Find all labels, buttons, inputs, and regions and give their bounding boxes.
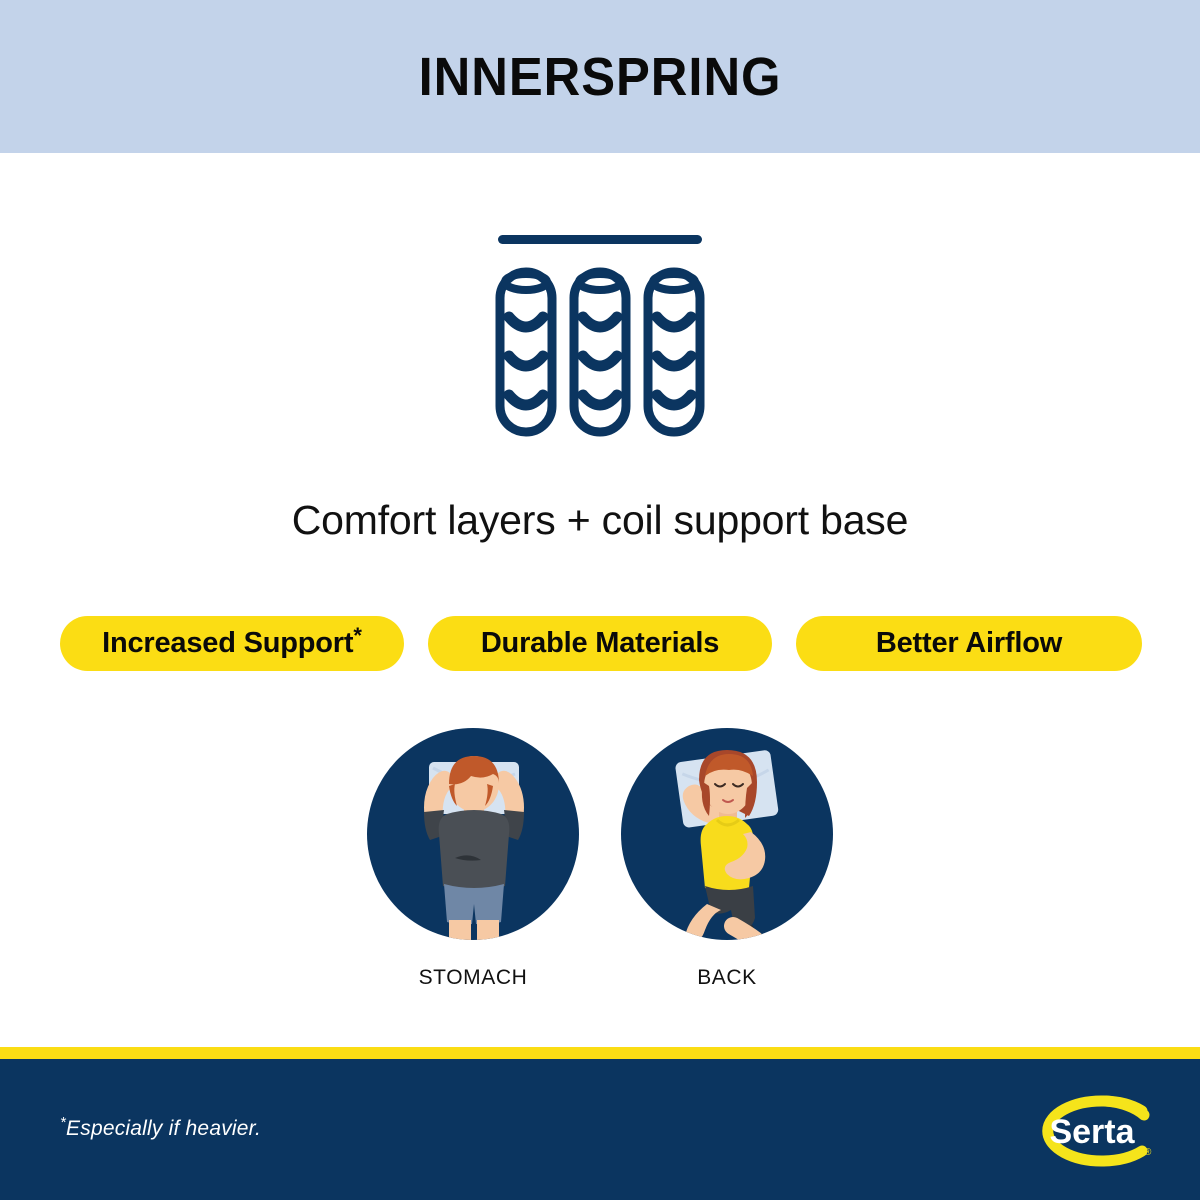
stomach-sleeper-circle (367, 728, 579, 940)
stomach-sleeper-illustration (367, 728, 579, 940)
sleep-position-label: STOMACH (419, 966, 528, 990)
coil-1-icon (500, 272, 552, 432)
sleep-position-label: BACK (697, 966, 757, 990)
feature-pill-label: Durable Materials (481, 627, 719, 660)
sleep-position-stomach[interactable]: STOMACH (367, 728, 579, 990)
feature-pill-label: Increased Support (102, 627, 353, 660)
sleep-positions-row: STOMACH (0, 728, 1200, 990)
page-title: INNERSPRING (419, 46, 782, 108)
shorts (444, 884, 504, 925)
coil-icon-container (0, 225, 1200, 440)
feature-pill-increased-support[interactable]: Increased Support* (60, 616, 404, 671)
back-sleeper-circle (621, 728, 833, 940)
feature-pill-durable-materials[interactable]: Durable Materials (428, 616, 772, 671)
subtitle-text: Comfort layers + coil support base (0, 497, 1200, 544)
registered-mark: ® (1144, 1147, 1152, 1158)
feature-pill-label: Better Airflow (876, 627, 1062, 660)
back-sleeper-illustration (621, 728, 833, 940)
coil-3-icon (648, 272, 700, 432)
footnote-text: *Especially if heavier. (60, 1117, 261, 1141)
serta-logo[interactable]: Serta ® (1030, 1085, 1158, 1177)
serta-wordmark: Serta (1049, 1113, 1135, 1151)
footer-yellow-stripe (0, 1047, 1200, 1059)
coil-2-icon (574, 272, 626, 432)
torso-shirt (439, 810, 510, 890)
head-hair (449, 756, 499, 812)
coil-stack-icon (490, 225, 710, 440)
support-bar-icon (498, 235, 702, 244)
feature-pill-better-airflow[interactable]: Better Airflow (796, 616, 1142, 671)
legs (449, 920, 499, 940)
feature-pills-row: Increased Support* Durable Materials Bet… (60, 616, 1142, 671)
header-band: INNERSPRING (0, 0, 1200, 153)
footnote-body: Especially if heavier. (66, 1117, 261, 1140)
sleep-position-back[interactable]: BACK (621, 728, 833, 990)
